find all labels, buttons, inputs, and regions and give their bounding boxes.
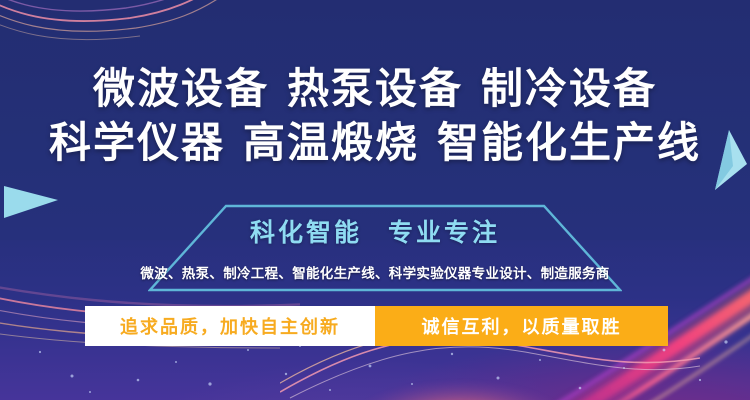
headline-word-5: 高温煅烧: [243, 119, 419, 166]
headline-word-1: 微波设备: [93, 65, 269, 112]
subtitle-row: 科化智能专业专注: [0, 216, 750, 250]
headline: 微波设备热泵设备制冷设备 科学仪器高温煅烧智能化生产线: [0, 62, 750, 170]
subtitle-right: 专业专注: [388, 219, 500, 247]
headline-word-6: 智能化生产线: [437, 119, 701, 166]
headline-word-2: 热泵设备: [287, 65, 463, 112]
triangle-right-icon: [4, 180, 60, 220]
headline-word-3: 制冷设备: [481, 65, 657, 112]
headline-word-4: 科学仪器: [49, 119, 225, 166]
headline-line-1: 微波设备热泵设备制冷设备: [0, 62, 750, 116]
secondary-slogan-button[interactable]: 诚信互利，以质量取胜: [375, 306, 668, 346]
headline-line-2: 科学仪器高温煅烧智能化生产线: [0, 116, 750, 170]
subtitle-left: 科化智能: [250, 219, 362, 247]
cta-button-row: 追求品质，加快自主创新 诚信互利，以质量取胜: [85, 306, 668, 346]
primary-slogan-button[interactable]: 追求品质，加快自主创新: [85, 306, 375, 346]
promo-banner: 微波设备热泵设备制冷设备 科学仪器高温煅烧智能化生产线 科化智能专业专注 微波、…: [0, 0, 750, 400]
subtitle-description: 微波、热泵、制冷工程、智能化生产线、科学实验仪器专业设计、制造服务商: [0, 262, 750, 282]
